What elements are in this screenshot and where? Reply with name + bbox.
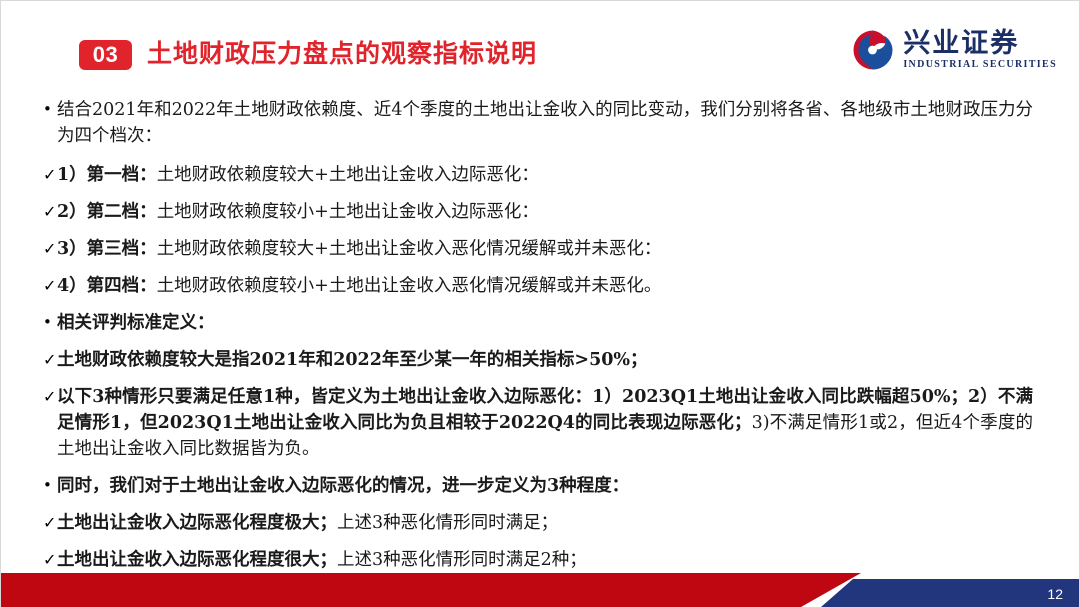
bullet-text: 同时，我们对于土地出让金收入边际恶化的情况，进一步定义为3种程度：: [57, 473, 1080, 499]
company-logo: 兴业证券 INDUSTRIAL SECURITIES: [852, 29, 1057, 71]
check-marker: ✓: [1, 547, 57, 572]
bullet-text-regular: 上述3种恶化情形同时满足；: [337, 513, 558, 533]
bullet-row: ✓ 1）第一档：土地财政依赖度较大+土地出让金收入边际恶化：: [1, 162, 1080, 188]
bullet-marker: •: [1, 473, 57, 498]
check-marker: ✓: [1, 347, 57, 372]
bullet-text-regular: 土地财政依赖度较小+土地出让金收入边际恶化：: [157, 202, 539, 222]
section-number-badge: 03: [79, 40, 132, 70]
check-marker: ✓: [1, 199, 57, 224]
bullet-marker: •: [1, 310, 57, 335]
bullet-text: 以下3种情形只要满足任意1种，皆定义为土地出让金收入边际恶化：1）2023Q1土…: [57, 384, 1080, 462]
bullet-row: ✓ 2）第二档：土地财政依赖度较小+土地出让金收入边际恶化：: [1, 199, 1080, 225]
bullet-text-regular: 上述3种恶化情形同时满足2种；: [337, 550, 587, 570]
check-marker: ✓: [1, 510, 57, 535]
check-marker: ✓: [1, 273, 57, 298]
bullet-text-bold: 土地出让金收入边际恶化程度极大；: [57, 513, 337, 533]
bullet-text-regular: 土地财政依赖度较小+土地出让金收入恶化情况缓解或并未恶化。: [157, 276, 662, 296]
bullet-text-bold: 土地出让金收入边际恶化程度很大；: [57, 550, 337, 570]
bullet-row: ✓ 3）第三档：土地财政依赖度较大+土地出让金收入恶化情况缓解或并未恶化：: [1, 236, 1080, 262]
bullet-row: • 同时，我们对于土地出让金收入边际恶化的情况，进一步定义为3种程度：: [1, 473, 1080, 499]
page-title: 土地财政压力盘点的观察指标说明: [147, 37, 537, 71]
bullet-row: • 结合2021年和2022年土地财政依赖度、近4个季度的土地出让金收入的同比变…: [1, 97, 1080, 149]
slide-body: • 结合2021年和2022年土地财政依赖度、近4个季度的土地出让金收入的同比变…: [1, 97, 1080, 608]
slide: 03 土地财政压力盘点的观察指标说明 兴业证券 INDUSTRIAL SECUR…: [0, 0, 1080, 608]
bullet-text: 土地财政依赖度较大是指2021年和2022年至少某一年的相关指标>50%；: [57, 347, 1080, 373]
bullet-row: ✓ 土地出让金收入边际恶化程度极大；上述3种恶化情形同时满足；: [1, 510, 1080, 536]
bullet-text-regular: 土地财政依赖度较大+土地出让金收入恶化情况缓解或并未恶化：: [157, 239, 662, 259]
bullet-row: ✓ 土地出让金收入边际恶化程度很大；上述3种恶化情形同时满足2种；: [1, 547, 1080, 573]
bullet-text: 土地出让金收入边际恶化程度极大；上述3种恶化情形同时满足；: [57, 510, 1080, 536]
footer-red-band: [1, 573, 881, 607]
check-marker: ✓: [1, 236, 57, 261]
logo-name-cn: 兴业证券: [903, 29, 1057, 58]
footer-blue-band: [821, 579, 1080, 607]
bullet-text: 相关评判标准定义：: [57, 310, 1080, 336]
bullet-text: 3）第三档：土地财政依赖度较大+土地出让金收入恶化情况缓解或并未恶化：: [57, 236, 1080, 262]
check-marker: ✓: [1, 162, 57, 187]
bullet-text: 结合2021年和2022年土地财政依赖度、近4个季度的土地出让金收入的同比变动，…: [57, 97, 1080, 149]
bullet-row: ✓ 土地财政依赖度较大是指2021年和2022年至少某一年的相关指标>50%；: [1, 347, 1080, 373]
bullet-text-bold: 4）第四档：: [57, 276, 157, 296]
bullet-text-bold: 2）第二档：: [57, 202, 157, 222]
bullet-text-bold: 土地财政依赖度较大是指2021年和2022年至少某一年的相关指标>50%；: [57, 350, 648, 370]
logo-name-en: INDUSTRIAL SECURITIES: [903, 58, 1057, 71]
bullet-text-regular: 土地财政依赖度较大+土地出让金收入边际恶化：: [157, 165, 539, 185]
bullet-text-regular: 结合2021年和2022年土地财政依赖度、近4个季度的土地出让金收入的同比变动，…: [57, 100, 1033, 146]
check-marker: ✓: [1, 384, 57, 409]
bullet-marker: •: [1, 97, 57, 122]
yinyang-swirl-icon: [852, 29, 894, 71]
bullet-text-bold: 相关评判标准定义：: [57, 313, 215, 333]
bullet-row: ✓ 以下3种情形只要满足任意1种，皆定义为土地出让金收入边际恶化：1）2023Q…: [1, 384, 1080, 462]
bullet-row: • 相关评判标准定义：: [1, 310, 1080, 336]
bullet-row: ✓ 4）第四档：土地财政依赖度较小+土地出让金收入恶化情况缓解或并未恶化。: [1, 273, 1080, 299]
bullet-text: 土地出让金收入边际恶化程度很大；上述3种恶化情形同时满足2种；: [57, 547, 1080, 573]
bullet-text: 2）第二档：土地财政依赖度较小+土地出让金收入边际恶化：: [57, 199, 1080, 225]
bullet-text-bold: 同时，我们对于土地出让金收入边际恶化的情况，进一步定义为3种程度：: [57, 476, 629, 496]
bullet-text-bold: 3）第三档：: [57, 239, 157, 259]
page-number: 12: [1047, 585, 1063, 603]
bullet-text: 4）第四档：土地财政依赖度较小+土地出让金收入恶化情况缓解或并未恶化。: [57, 273, 1080, 299]
logo-wordmark: 兴业证券 INDUSTRIAL SECURITIES: [903, 29, 1057, 71]
bullet-text: 1）第一档：土地财政依赖度较大+土地出让金收入边际恶化：: [57, 162, 1080, 188]
slide-footer: 12: [1, 573, 1080, 607]
bullet-text-bold: 1）第一档：: [57, 165, 157, 185]
